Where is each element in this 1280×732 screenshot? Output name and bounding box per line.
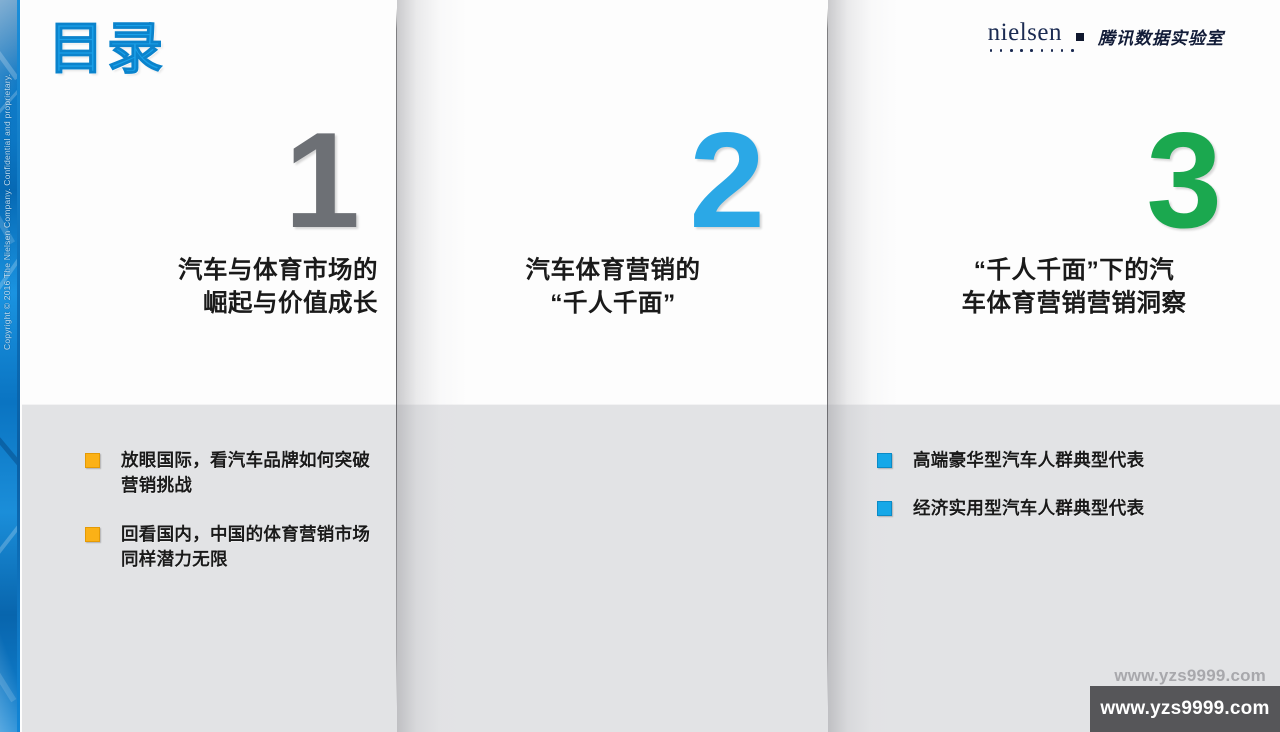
toc-column-1: 1 汽车与体育市场的 崛起与价值成长 放眼国际，看汽车品牌如何突破营销挑战 回看… bbox=[22, 0, 396, 732]
headline-line: 汽车与体育市场的 bbox=[78, 255, 378, 288]
list-item-label: 放眼国际，看汽车品牌如何突破营销挑战 bbox=[121, 448, 385, 499]
strip-streak bbox=[0, 40, 17, 80]
section-number-3: 3 bbox=[1146, 112, 1222, 248]
strip-streak bbox=[0, 205, 15, 244]
section-number-1: 1 bbox=[284, 112, 360, 248]
watermark-label: www.yzs9999.com bbox=[1100, 698, 1269, 720]
section-headline-3: “千人千面”下的汽 车体育营销营销洞察 bbox=[914, 255, 1234, 320]
headline-line: “千人千面” bbox=[423, 288, 803, 321]
headline-line: 车体育营销营销洞察 bbox=[914, 288, 1234, 321]
slide-canvas: Copyright © 2016 The Nielsen Company. Co… bbox=[0, 0, 1280, 732]
partner-logo-label: 腾讯数据实验室 bbox=[1098, 24, 1224, 49]
strip-streak bbox=[0, 83, 17, 122]
square-bullet-icon bbox=[85, 453, 100, 468]
list-item[interactable]: 回看国内，中国的体育营销市场同样潜力无限 bbox=[85, 522, 385, 573]
toc-column-2: 2 汽车体育营销的 “千人千面” 高端豪华型汽车人群典型代表 经济实用型汽车人群… bbox=[397, 0, 827, 732]
watermark-ghost-text: www.yzs9999.com bbox=[1114, 666, 1266, 686]
nielsen-wordmark: nielsen bbox=[988, 20, 1062, 45]
brand-logo-row: nielsen 腾讯数据实验室 bbox=[988, 20, 1224, 53]
list-item[interactable]: 放眼国际，看汽车品牌如何突破营销挑战 bbox=[85, 448, 385, 499]
square-bullet-icon bbox=[1076, 33, 1084, 41]
strip-streak bbox=[0, 257, 17, 302]
headline-line: 崛起与价值成长 bbox=[78, 288, 378, 321]
page-title: 目录 bbox=[48, 21, 166, 77]
nielsen-dots-icon bbox=[990, 49, 1074, 53]
strip-streak bbox=[0, 522, 17, 562]
section-headline-1: 汽车与体育市场的 崛起与价值成长 bbox=[78, 255, 378, 320]
section-number-2: 2 bbox=[689, 112, 765, 248]
headline-line: “千人千面”下的汽 bbox=[914, 255, 1234, 288]
toc-column-3: 3 “千人千面”下的汽 车体育营销营销洞察 高端人群与小众体育 中产阶级与大众体… bbox=[828, 0, 1280, 732]
nielsen-logo: nielsen bbox=[988, 20, 1062, 53]
list-item-label: 回看国内，中国的体育营销市场同样潜力无限 bbox=[121, 522, 385, 573]
watermark-badge: www.yzs9999.com bbox=[1090, 686, 1280, 732]
bullet-list-1: 放眼国际，看汽车品牌如何突破营销挑战 回看国内，中国的体育营销市场同样潜力无限 bbox=[85, 448, 385, 596]
section-headline-2: 汽车体育营销的 “千人千面” bbox=[423, 255, 803, 320]
headline-line: 汽车体育营销的 bbox=[423, 255, 803, 288]
square-bullet-icon bbox=[85, 527, 100, 542]
strip-streak bbox=[0, 660, 16, 702]
left-blue-strip bbox=[0, 0, 17, 732]
strip-streak bbox=[0, 430, 17, 467]
